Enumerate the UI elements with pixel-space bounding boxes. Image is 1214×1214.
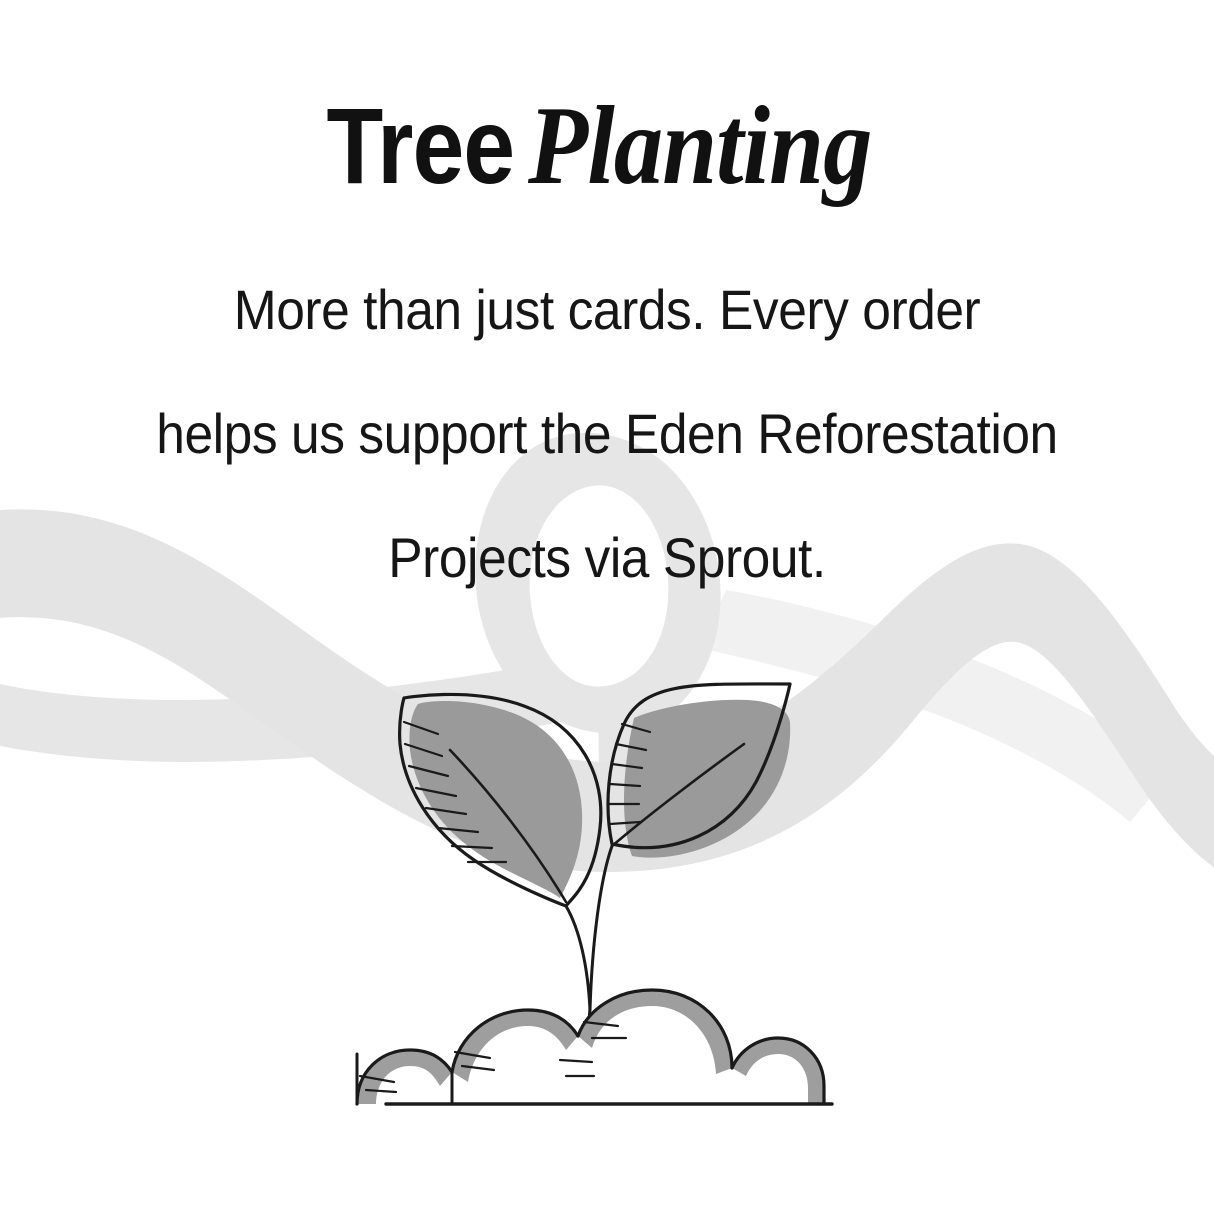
left-leaf	[400, 694, 601, 906]
body-line-1: More than just cards. Every order	[49, 248, 1166, 372]
page-title: TreePlanting	[0, 86, 1214, 207]
soil-mound	[357, 990, 832, 1104]
body-copy: More than just cards. Every order helps …	[0, 248, 1214, 620]
tree-planting-promo-card: TreePlanting More than just cards. Every…	[0, 0, 1214, 1214]
title-word-primary: Tree	[326, 88, 514, 205]
body-line-3: Projects via Sprout.	[49, 496, 1166, 620]
right-leaf	[608, 684, 790, 858]
title-word-secondary: Planting	[528, 86, 872, 207]
body-line-2: helps us support the Eden Reforestation	[49, 372, 1166, 496]
